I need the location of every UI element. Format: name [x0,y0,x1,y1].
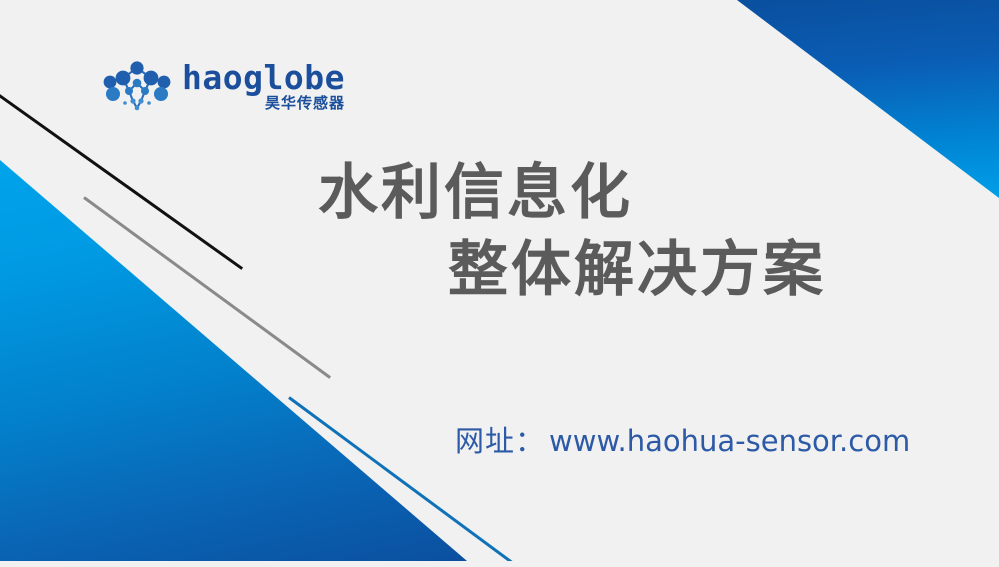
slide-title-line-1: 水利信息化 [0,155,999,232]
slide-title-line-2: 整体解决方案 [0,232,999,309]
slide-title: 水利信息化 整体解决方案 [0,155,999,309]
logo-text-block: haoglobe 昊华传感器 [182,61,345,111]
website-label: 网址： [455,418,545,460]
website-url[interactable]: www.haohua-sensor.com [549,424,910,458]
presentation-slide: haoglobe 昊华传感器 水利信息化 整体解决方案 网址： www.haoh… [0,0,999,567]
network-dots-icon [98,58,176,114]
logo-wordmark: haoglobe [182,61,345,94]
logo-subtitle: 昊华传感器 [265,96,345,111]
company-logo: haoglobe 昊华传感器 [98,58,345,114]
website-line: 网址： www.haohua-sensor.com [455,418,910,460]
bottom-edge-strip [0,561,999,567]
